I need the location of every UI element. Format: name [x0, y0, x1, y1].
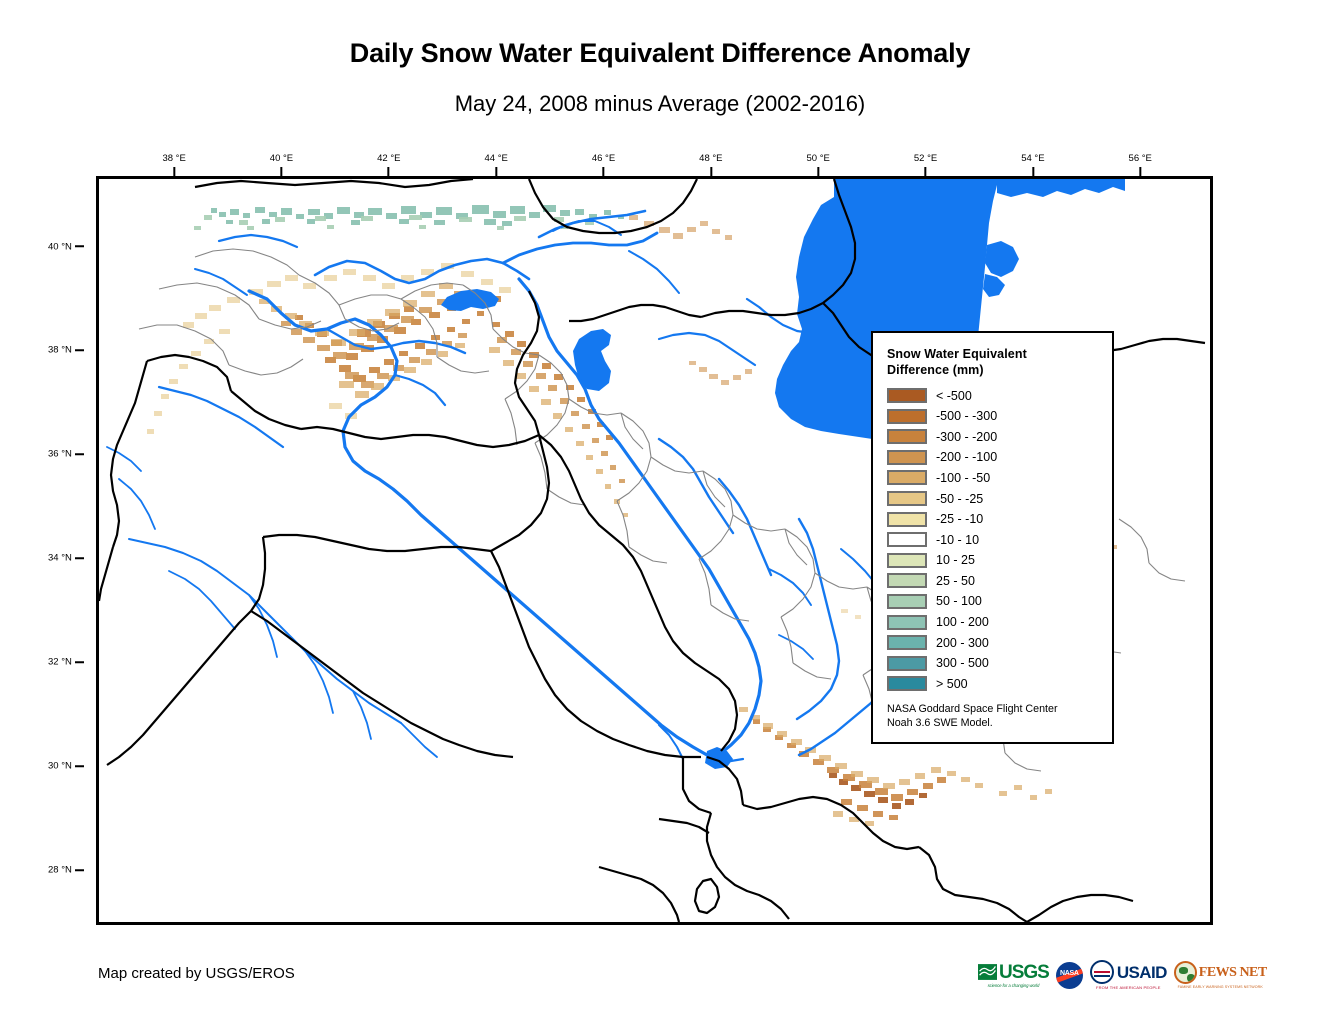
legend-title: Snow Water Equivalent Difference (mm)	[887, 347, 1100, 378]
fews-globe-icon	[1174, 961, 1197, 984]
legend-label: -100 - -50	[936, 471, 990, 485]
latitude-tick: 40 °N	[48, 242, 84, 252]
nasa-logo-text: NASA	[1056, 970, 1083, 977]
legend-swatch	[887, 429, 927, 444]
legend-swatch	[887, 676, 927, 691]
legend-row: 25 - 50	[887, 571, 1100, 592]
longitude-tick: 52 °E	[914, 154, 937, 176]
legend-swatch	[887, 388, 927, 403]
legend-swatch	[887, 512, 927, 527]
legend-label: 300 - 500	[936, 656, 989, 670]
legend-row: -10 - 10	[887, 529, 1100, 550]
legend-label: -500 - -300	[936, 409, 997, 423]
legend-row: 50 - 100	[887, 591, 1100, 612]
longitude-tick: 54 °E	[1021, 154, 1044, 176]
legend-row: -300 - -200	[887, 426, 1100, 447]
legend-swatch	[887, 656, 927, 671]
fews-tagline: FAMINE EARLY WARNING SYSTEMS NETWORK	[1178, 985, 1263, 989]
legend-label: -10 - 10	[936, 533, 979, 547]
logo-bar: USGS science for a changing world NASA U…	[978, 958, 1267, 992]
legend-row: 10 - 25	[887, 550, 1100, 571]
longitude-tick: 50 °E	[807, 154, 830, 176]
legend-label: 10 - 25	[936, 553, 975, 567]
legend-row: -100 - -50	[887, 468, 1100, 489]
legend-swatch	[887, 470, 927, 485]
legend-label: -25 - -10	[936, 512, 983, 526]
longitude-tick: 42 °E	[377, 154, 400, 176]
legend-swatch	[887, 532, 927, 547]
legend-label: 25 - 50	[936, 574, 975, 588]
latitude-tick: 30 °N	[48, 761, 84, 771]
longitude-tick: 56 °E	[1129, 154, 1152, 176]
legend-swatch	[887, 553, 927, 568]
legend-swatch	[887, 635, 927, 650]
usgs-logo-text: USGS	[999, 963, 1049, 982]
legend-label: -300 - -200	[936, 430, 997, 444]
legend-label: 100 - 200	[936, 615, 989, 629]
legend-row: 300 - 500	[887, 653, 1100, 674]
legend-row: -200 - -100	[887, 447, 1100, 468]
legend-swatch	[887, 594, 927, 609]
legend-swatch	[887, 450, 927, 465]
legend-label: 50 - 100	[936, 594, 982, 608]
legend-label: < -500	[936, 389, 972, 403]
page-subtitle: May 24, 2008 minus Average (2002-2016)	[0, 93, 1320, 115]
legend-row: 100 - 200	[887, 612, 1100, 633]
legend-label: 200 - 300	[936, 636, 989, 650]
map-credit: Map created by USGS/EROS	[98, 965, 295, 982]
legend-title-line1: Snow Water Equivalent	[887, 347, 1100, 363]
latitude-tick: 34 °N	[48, 554, 84, 564]
usaid-tagline: FROM THE AMERICAN PEOPLE	[1096, 985, 1161, 990]
usaid-logo-text: USAID	[1117, 964, 1167, 981]
legend-row: 200 - 300	[887, 632, 1100, 653]
usgs-wave-icon	[978, 964, 997, 980]
longitude-tick: 46 °E	[592, 154, 615, 176]
legend-label: > 500	[936, 677, 968, 691]
latitude-tick: 28 °N	[48, 865, 84, 875]
longitude-tick: 44 °E	[484, 154, 507, 176]
latitude-tick: 36 °N	[48, 450, 84, 460]
longitude-tick: 40 °E	[270, 154, 293, 176]
nasa-logo: NASA	[1056, 960, 1083, 990]
page-title: Daily Snow Water Equivalent Difference A…	[0, 40, 1320, 67]
legend-swatch	[887, 615, 927, 630]
legend-row: -25 - -10	[887, 509, 1100, 530]
usaid-seal-icon	[1090, 960, 1114, 984]
legend-row: > 500	[887, 674, 1100, 695]
latitude-tick: 38 °N	[48, 346, 84, 356]
title-block: Daily Snow Water Equivalent Difference A…	[0, 0, 1320, 115]
legend-swatch	[887, 573, 927, 588]
usaid-logo: USAID FROM THE AMERICAN PEOPLE	[1090, 960, 1167, 990]
fews-logo-text: FEWS NET	[1199, 966, 1267, 980]
legend-row: < -500	[887, 385, 1100, 406]
legend-label: -200 - -100	[936, 450, 997, 464]
usgs-tagline: science for a changing world	[988, 983, 1040, 988]
legend-title-line2: Difference (mm)	[887, 363, 1100, 379]
legend-row: -50 - -25	[887, 488, 1100, 509]
legend-row: -500 - -300	[887, 406, 1100, 427]
legend-source-note: NASA Goddard Space Flight Center Noah 3.…	[887, 703, 1100, 731]
legend-class-list: < -500-500 - -300-300 - -200-200 - -100-…	[887, 385, 1100, 694]
latitude-tick: 32 °N	[48, 657, 84, 667]
fews-net-logo: FEWS NET FAMINE EARLY WARNING SYSTEMS NE…	[1174, 960, 1267, 990]
map-legend: Snow Water Equivalent Difference (mm) < …	[871, 331, 1114, 744]
legend-swatch	[887, 491, 927, 506]
legend-swatch	[887, 409, 927, 424]
longitude-tick: 48 °E	[699, 154, 722, 176]
usgs-logo: USGS science for a changing world	[978, 960, 1049, 990]
longitude-tick: 38 °E	[162, 154, 185, 176]
legend-label: -50 - -25	[936, 492, 983, 506]
